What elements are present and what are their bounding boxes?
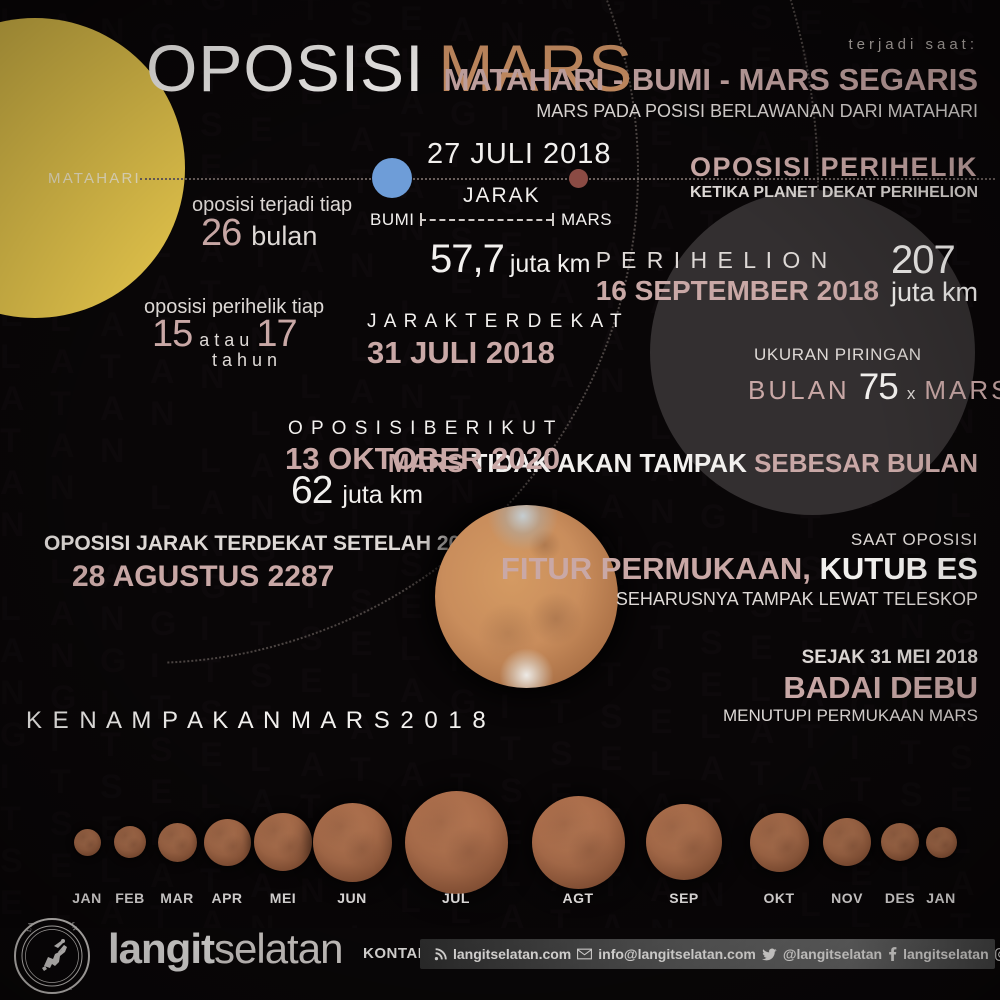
sagittarius-logo-icon: LANGITSELATAN ASTRO 101: [18, 922, 86, 990]
mars-disk-jun-5: [313, 803, 392, 882]
timeline-month-label: NOV: [817, 890, 877, 906]
contact-item-email[interactable]: info@langitselatan.com: [571, 946, 756, 962]
mars-disk-des-11: [881, 823, 919, 861]
mars-disk-jan-0: [74, 829, 101, 856]
contact-item-facebook[interactable]: langitselatan: [882, 946, 989, 962]
timeline-month-label: JAN: [911, 890, 971, 906]
disk-size-mars-word: MARS: [924, 375, 1000, 406]
infographic-canvas: L A N G I T S E L A T A N L A N G I T S …: [0, 0, 1000, 1000]
header-subline: MARS PADA POSISI BERLAWANAN DARI MATAHAR…: [536, 101, 978, 122]
distance-measure-cap-right: [552, 213, 554, 226]
distance-measure-cap-left: [420, 213, 422, 226]
closest-caption: J A R A K T E R D E K A T: [367, 311, 623, 333]
surface-headline: FITUR PERMUKAAN, KUTUB ES: [501, 551, 978, 587]
perihelion-date: 16 SEPTEMBER 2018: [596, 275, 879, 307]
perihelic-title: OPOSISI PERIHELIK: [690, 152, 978, 183]
cycle-months-value: 26: [201, 212, 241, 255]
distance-measure-line: [420, 219, 552, 221]
mars-disk-jan-12: [926, 827, 957, 858]
distance-value-row: 57,7 juta km: [430, 237, 590, 282]
contact-item-rss[interactable]: langitselatan.com: [420, 946, 571, 962]
next-opposition-value-row: 62 juta km: [291, 469, 423, 513]
disk-size-row: BULAN 75 x MARS: [748, 366, 1000, 408]
closest-after-2003-caption: OPOSISI JARAK TERDEKAT SETELAH 2003: [44, 532, 484, 556]
cycle-years-value1: 15: [152, 313, 192, 356]
distance-caption: JARAK: [463, 184, 541, 208]
dust-storm-headline: BADAI DEBU: [783, 670, 978, 706]
twitter-icon: [762, 948, 777, 961]
mars-opposition-disk: [569, 169, 588, 188]
mars-telescope-photo: [435, 505, 618, 688]
not-as-big-part3: SEBESAR BULAN: [754, 448, 978, 478]
next-opposition-value: 62: [291, 469, 332, 513]
mars-disk-okt-9: [750, 813, 809, 872]
surface-headline-a: FITUR PERMUKAAN,: [501, 551, 811, 586]
langitselatan-wordmark[interactable]: langitselatan: [108, 925, 342, 973]
wordmark-langit: langit: [108, 925, 214, 972]
cycle-months-row: 26 bulan: [201, 212, 317, 255]
mars-disk-feb-1: [114, 826, 146, 858]
closest-date: 31 JULI 2018: [367, 335, 555, 371]
next-opposition-caption: O P O S I S I B E R I K U T: [288, 418, 557, 440]
mars-disk-apr-3: [204, 819, 251, 866]
perihelic-subtitle: KETIKA PLANET DEKAT PERIHELION: [690, 184, 978, 202]
mars-disk-sep-8: [646, 804, 722, 880]
distance-unit: juta km: [510, 250, 591, 279]
header-headline: MATAHARI - BUMI - MARS SEGARIS: [444, 62, 978, 98]
timeline-title: K E N A M P A K A N M A R S 2 0 1 8: [26, 707, 488, 735]
perihelion-block: P E R I H E L I O N 16 SEPTEMBER 2018 20…: [596, 243, 978, 307]
langitselatan-logo-badge[interactable]: LANGITSELATAN ASTRO 101: [14, 918, 90, 994]
disk-size-caption: UKURAN PIRINGAN: [754, 345, 922, 365]
rss-icon: [434, 948, 447, 961]
dust-storm-kicker: SEJAK 31 MEI 2018: [802, 647, 978, 669]
email-icon: [577, 948, 592, 960]
header-kicker: terjadi saat:: [848, 36, 978, 53]
distance-value: 57,7: [430, 237, 504, 282]
timeline-month-label: JUN: [322, 890, 382, 906]
contact-item-twitter[interactable]: @langitselatan: [756, 946, 882, 962]
wordmark-selatan: selatan: [214, 925, 342, 972]
surface-headline-b: KUTUB ES: [811, 551, 978, 586]
mars-label: MARS: [561, 210, 612, 230]
mars-apparent-size-timeline: JANFEBMARAPRMEIJUNJULAGTSEPOKTNOVDESJAN: [0, 750, 1000, 920]
instagram-icon: [995, 948, 1000, 961]
disk-size-times: x: [907, 384, 916, 404]
timeline-month-label: OKT: [749, 890, 809, 906]
contact-item-instagram[interactable]: langitselatanmedia: [989, 946, 1000, 962]
contact-item-label: @langitselatan: [783, 946, 882, 962]
timeline-month-label: APR: [197, 890, 257, 906]
opposition-date: 27 JULI 2018: [427, 138, 612, 171]
perihelion-label: P E R I H E L I O N: [596, 245, 879, 275]
cycle-years-joiner: a t a u: [199, 330, 249, 351]
surface-kicker: SAAT OPOSISI: [851, 530, 978, 550]
timeline-month-label: JUL: [426, 890, 486, 906]
contact-item-label: langitselatan.com: [453, 946, 571, 962]
perihelion-value: 207: [891, 243, 978, 277]
mars-disk-mei-4: [254, 813, 312, 871]
timeline-month-label: SEP: [654, 890, 714, 906]
dust-storm-subline: MENUTUPI PERMUKAAN MARS: [723, 706, 978, 726]
svg-text:LANGITSELATAN: LANGITSELATAN: [26, 922, 78, 932]
cycle-months-unit: bulan: [251, 221, 317, 252]
timeline-month-label: MEI: [253, 890, 313, 906]
mars-disk-mar-2: [158, 823, 197, 862]
contact-item-label: langitselatan: [903, 946, 989, 962]
perihelion-unit: juta km: [891, 277, 978, 307]
contact-item-label: info@langitselatan.com: [598, 946, 756, 962]
contact-items: langitselatan.cominfo@langitselatan.com@…: [420, 939, 995, 969]
cycle-years-unit: t a h u n: [212, 350, 277, 371]
sun-label: MATAHARI: [48, 170, 141, 187]
mars-disk-agt-7: [532, 796, 625, 889]
mars-disk-nov-10: [823, 818, 871, 866]
title-oposisi: OPOSISI: [146, 31, 424, 105]
facebook-icon: [888, 947, 897, 961]
earth-label: BUMI: [370, 210, 415, 230]
closest-after-2003-date: 28 AGUSTUS 2287: [72, 560, 334, 594]
earth-disk: [372, 158, 412, 198]
next-opposition-unit: juta km: [342, 481, 423, 510]
timeline-month-label: AGT: [548, 890, 608, 906]
surface-subline: SEHARUSNYA TAMPAK LEWAT TELESKOP: [616, 589, 978, 610]
disk-size-moon-word: BULAN: [748, 375, 850, 406]
mars-disk-jul-6: [405, 791, 508, 894]
disk-size-factor: 75: [859, 366, 898, 408]
